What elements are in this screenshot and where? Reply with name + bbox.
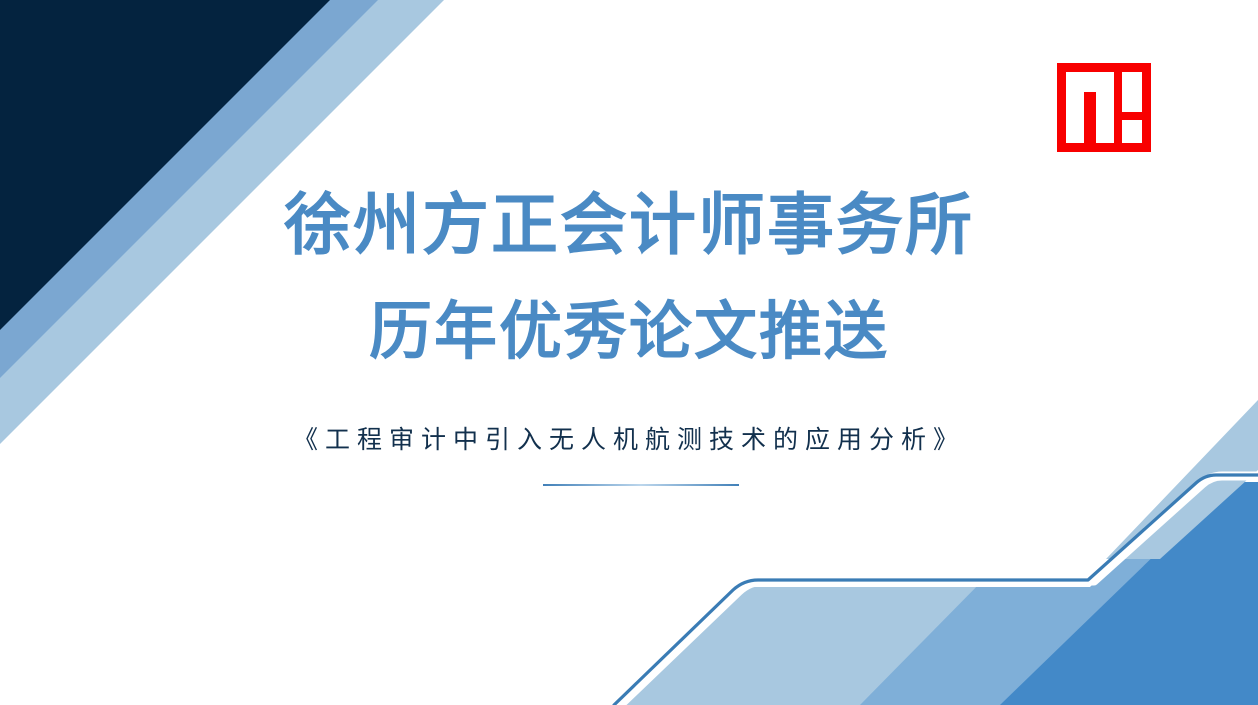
- title-slide: 徐州方正会计师事务所 历年优秀论文推送 《工程审计中引入无人机航测技术的应用分析…: [0, 0, 1258, 705]
- title-divider-line: [543, 484, 739, 486]
- title-text-block: 徐州方正会计师事务所 历年优秀论文推送 《工程审计中引入无人机航测技术的应用分析…: [0, 0, 1258, 705]
- page-title-line-1: 徐州方正会计师事务所: [0, 192, 1258, 259]
- subtitle-paper-name: 《工程审计中引入无人机航测技术的应用分析》: [0, 428, 1258, 453]
- page-title-line-2: 历年优秀论文推送: [0, 301, 1258, 364]
